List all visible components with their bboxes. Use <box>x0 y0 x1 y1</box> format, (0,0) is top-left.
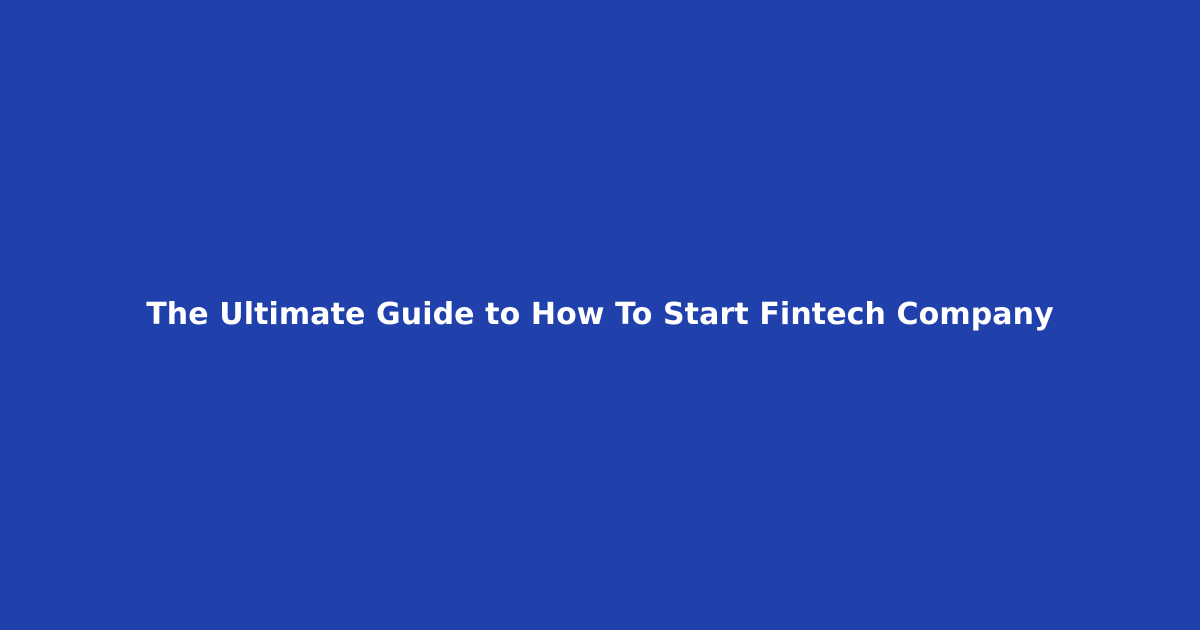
page-title: The Ultimate Guide to How To Start Finte… <box>60 296 1140 334</box>
og-card-content: The Ultimate Guide to How To Start Finte… <box>0 296 1200 334</box>
og-card: The Ultimate Guide to How To Start Finte… <box>0 0 1200 630</box>
